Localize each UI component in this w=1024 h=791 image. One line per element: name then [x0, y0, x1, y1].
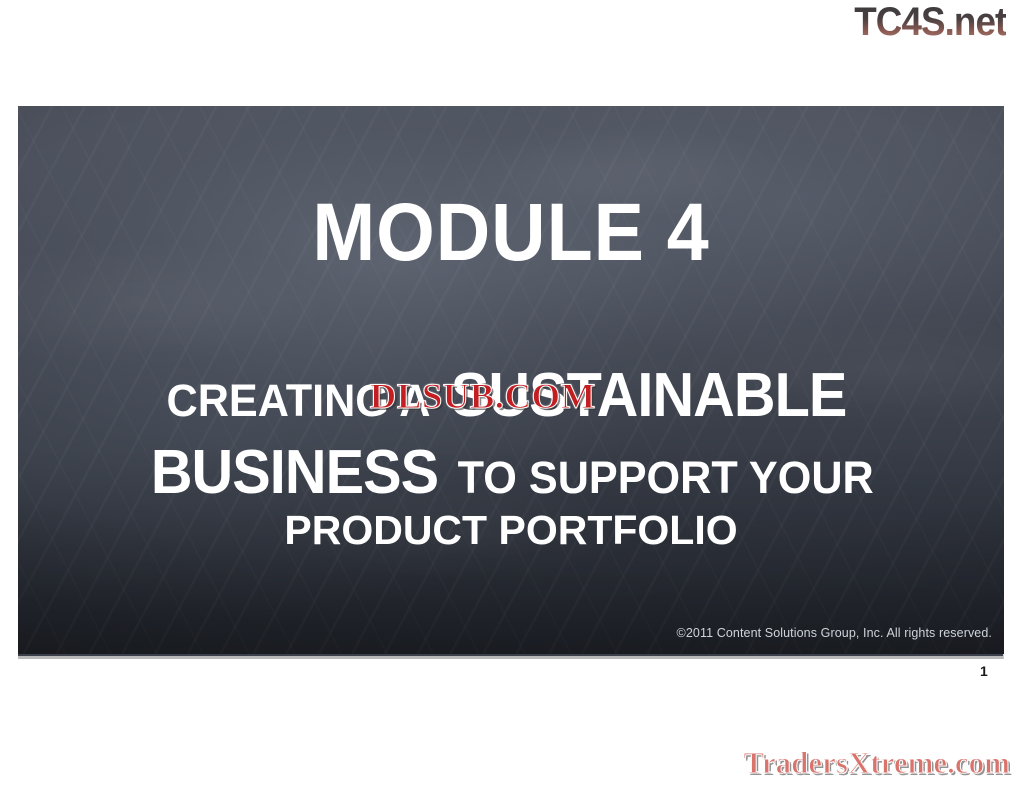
subtitle-line-2-trail: TO SUPPORT YOUR	[457, 455, 873, 501]
copyright-notice: ©2011 Content Solutions Group, Inc. All …	[677, 626, 992, 640]
subtitle-line-2-emphasis: BUSINESS	[151, 441, 438, 504]
tradersxtreme-logo: TradersXtreme.com	[743, 745, 1010, 781]
page-number: 1	[980, 663, 988, 679]
dlsub-watermark: DLSUB.COM	[370, 375, 596, 417]
tc4s-site-logo: TC4S.net	[854, 2, 1006, 42]
subtitle-line-3: PRODUCT PORTFOLIO	[58, 510, 964, 552]
page-title: MODULE 4	[57, 192, 964, 274]
subtitle-line-2: BUSINESS TO SUPPORT YOUR	[58, 441, 964, 504]
